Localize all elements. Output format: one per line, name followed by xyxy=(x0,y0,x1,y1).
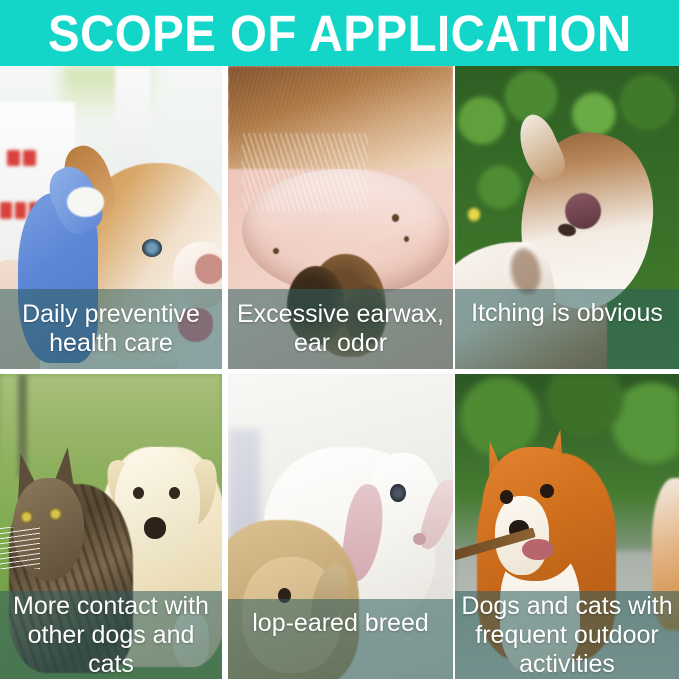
application-scope-grid: Daily preventive health care Excessive e… xyxy=(0,66,679,679)
scope-cell-excessive-earwax-ear-odor: Excessive earwax, ear odor xyxy=(228,66,453,369)
scope-caption-text: lop-eared breed xyxy=(252,609,429,638)
corgi-eye xyxy=(500,490,513,504)
corgi-eye xyxy=(540,484,553,498)
scope-cell-lop-eared-breed: lop-eared breed xyxy=(228,374,453,679)
scope-caption-text: Dogs and cats with frequent outdoor acti… xyxy=(461,592,673,679)
dog-nose xyxy=(195,254,222,284)
scope-caption-text: More contact with other dogs and cats xyxy=(6,592,216,679)
scope-caption: Daily preventive health care xyxy=(0,289,222,369)
white-rabbit-eye xyxy=(390,484,406,502)
white-rabbit-nose xyxy=(413,533,427,545)
scope-caption: More contact with other dogs and cats xyxy=(0,591,222,679)
yellow-flower xyxy=(468,208,479,220)
cat-whiskers xyxy=(0,527,40,570)
corgi-tongue xyxy=(522,539,553,560)
scope-caption: Itching is obvious xyxy=(455,289,679,369)
ear-debris-spot xyxy=(404,236,409,242)
ear-debris-spot xyxy=(392,214,399,221)
scope-caption: Dogs and cats with frequent outdoor acti… xyxy=(455,591,679,679)
scope-cell-daily-preventive-health-care: Daily preventive health care xyxy=(0,66,222,369)
scope-caption-text: Itching is obvious xyxy=(471,299,663,328)
scope-cell-more-contact-with-other-dogs-and-cats: More contact with other dogs and cats xyxy=(0,374,222,679)
puppy-eye xyxy=(169,487,180,499)
scope-caption: lop-eared breed xyxy=(228,599,453,679)
dog-eye xyxy=(142,239,162,257)
page-title: SCOPE OF APPLICATION xyxy=(48,8,632,59)
scope-cell-dogs-and-cats-with-frequent-outdoor-activities: Dogs and cats with frequent outdoor acti… xyxy=(455,374,679,679)
scope-caption: Excessive earwax, ear odor xyxy=(228,289,453,369)
poster-header: SCOPE OF APPLICATION xyxy=(0,0,679,66)
scope-of-application-poster: SCOPE OF APPLICATION Dai xyxy=(0,0,679,679)
puppy-nose xyxy=(144,517,166,538)
scope-caption-text: Excessive earwax, ear odor xyxy=(234,300,447,358)
scope-caption-text: Daily preventive health care xyxy=(6,300,216,358)
scope-cell-itching-is-obvious: Itching is obvious xyxy=(455,66,679,369)
